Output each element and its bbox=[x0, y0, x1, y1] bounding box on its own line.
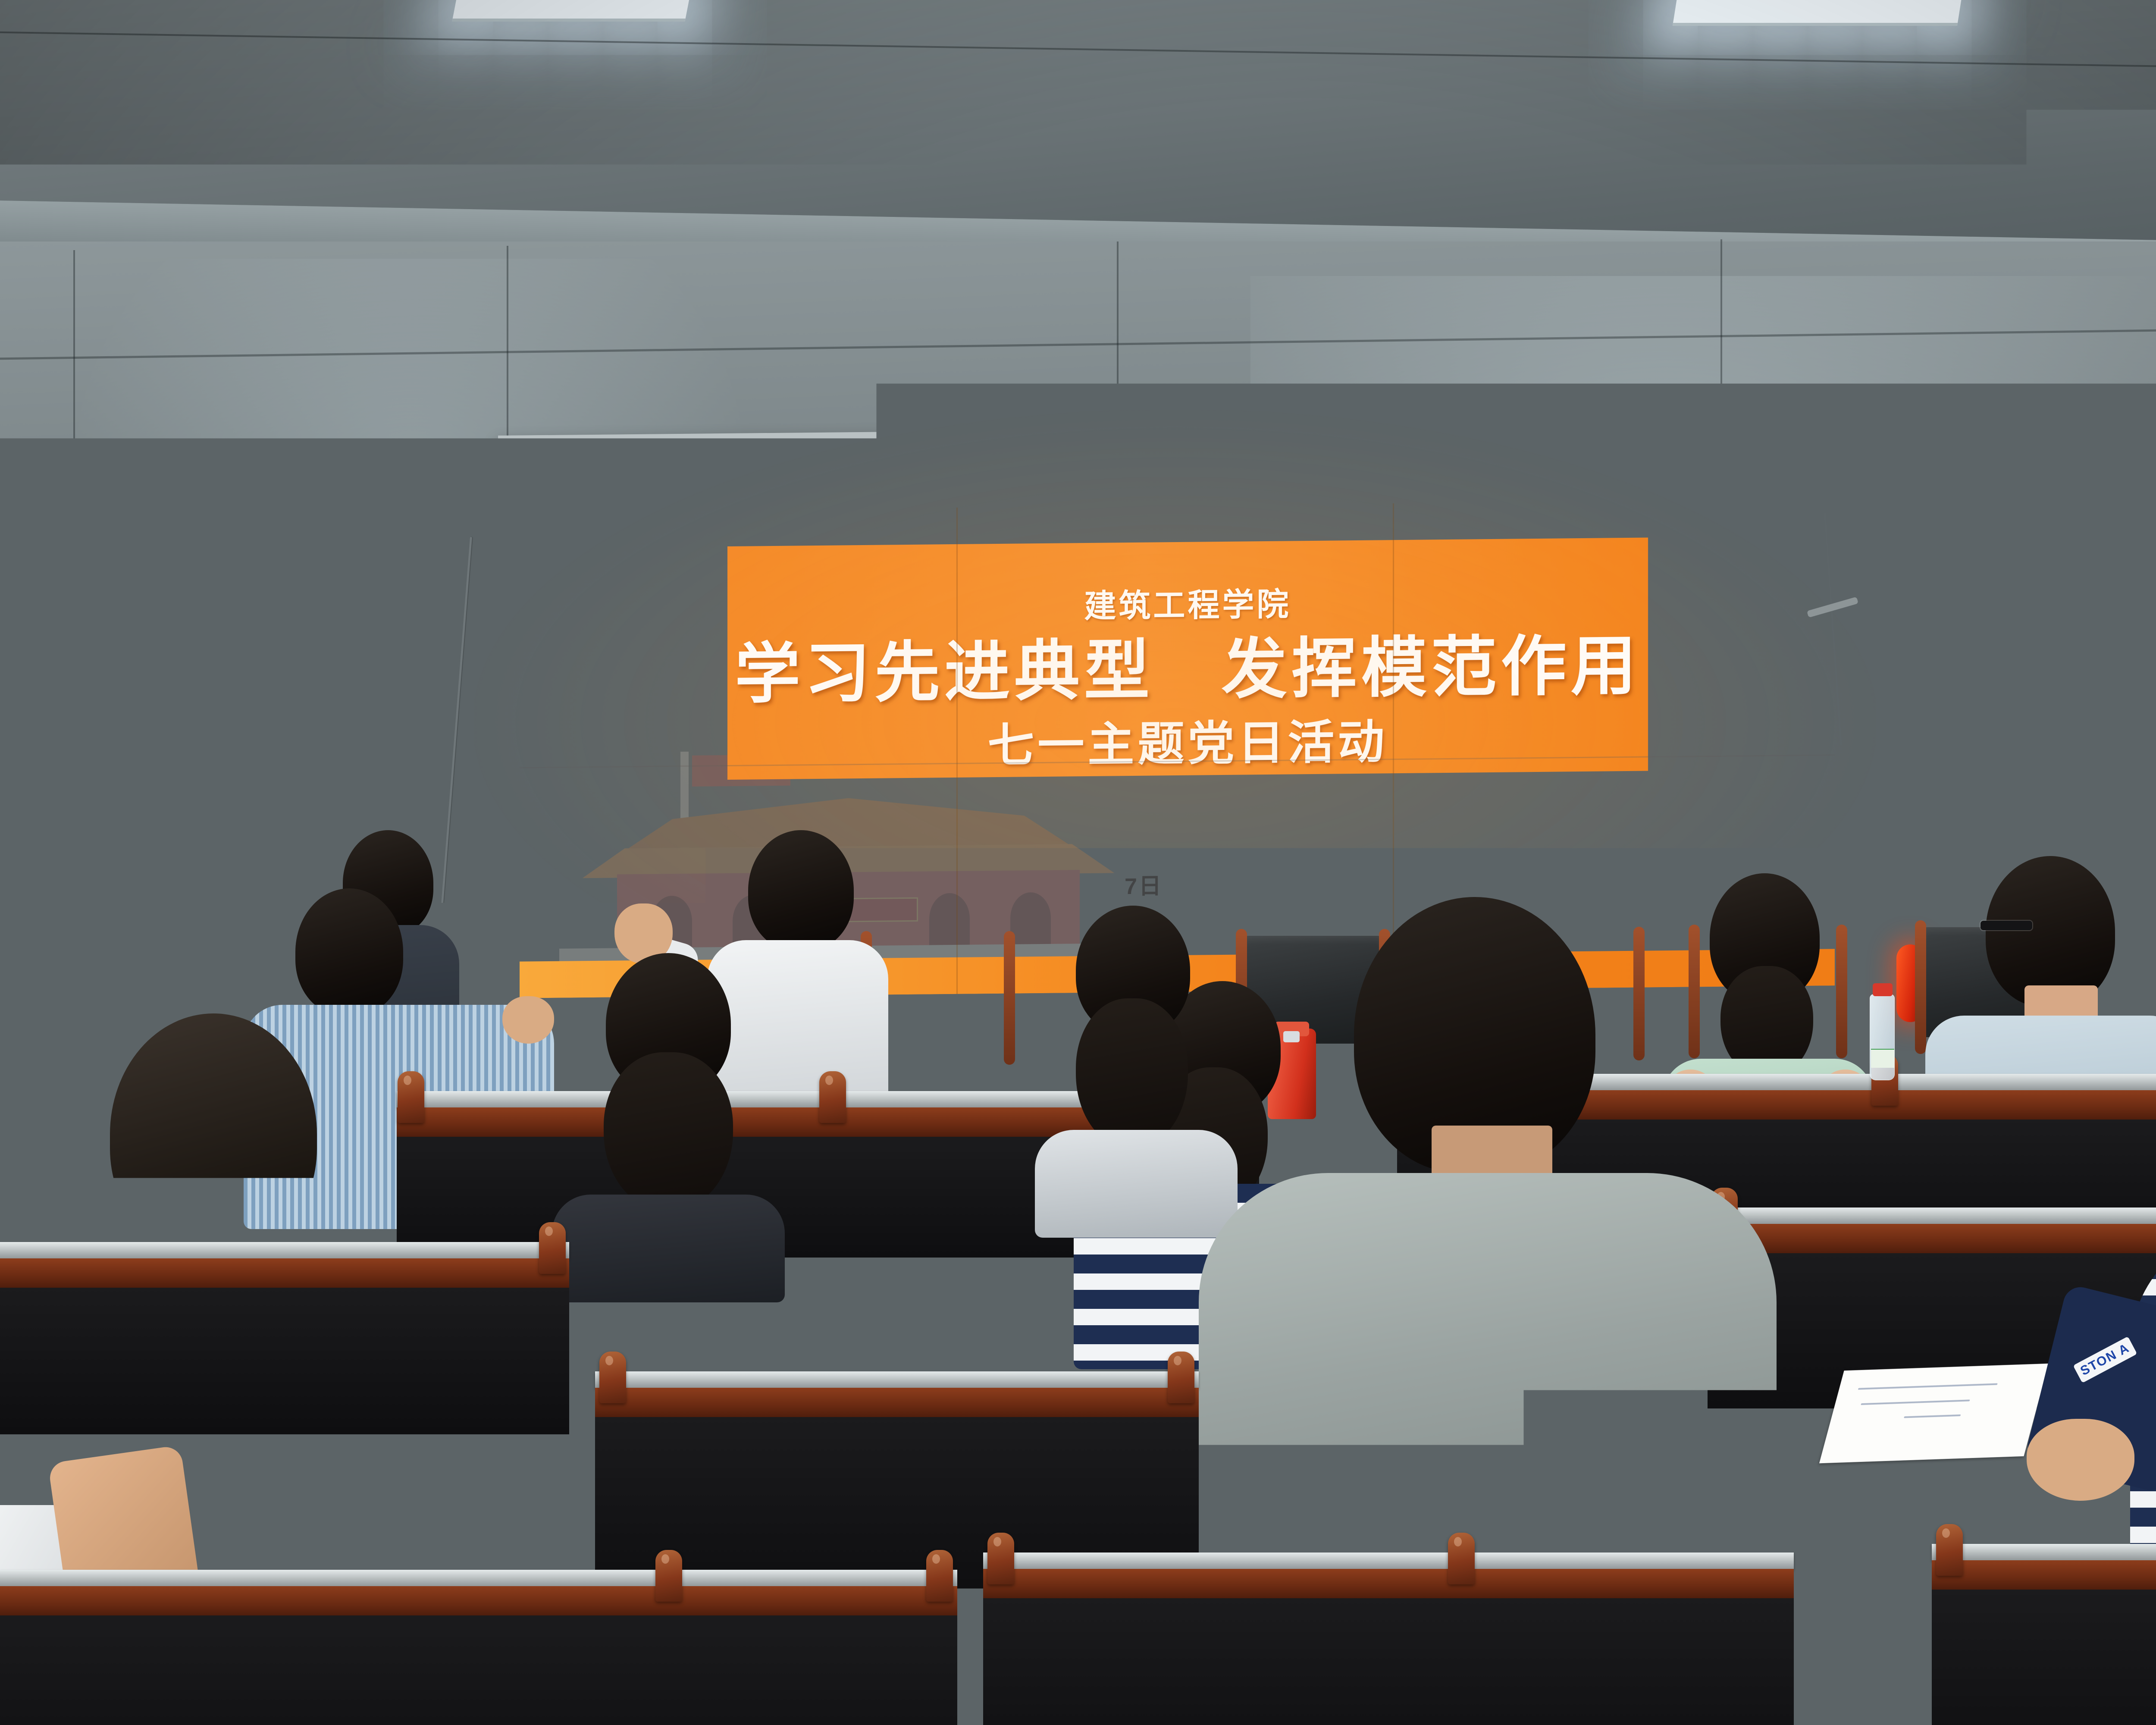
bench-rail bbox=[983, 1552, 1794, 1570]
water-bottle[interactable] bbox=[1870, 994, 1895, 1080]
hair bbox=[1076, 998, 1188, 1149]
bottle-cap bbox=[1873, 983, 1893, 996]
bench-post bbox=[1936, 1524, 1963, 1576]
bench-post bbox=[1168, 1352, 1194, 1403]
hand bbox=[2027, 1419, 2134, 1501]
bench-rail bbox=[1932, 1544, 2156, 1561]
slide-date-fragment: 7日 bbox=[1125, 868, 1163, 901]
head bbox=[748, 830, 854, 951]
glasses-icon bbox=[1981, 921, 2032, 930]
bench-wood-top bbox=[1932, 1560, 2156, 1590]
ceiling-light-icon bbox=[452, 0, 695, 22]
handwriting-line bbox=[1904, 1414, 1961, 1418]
handwritten-paper[interactable] bbox=[1819, 1364, 2049, 1463]
bench-rail bbox=[595, 1371, 1199, 1389]
wall-panel-seam bbox=[73, 250, 75, 1134]
bench-post bbox=[1448, 1533, 1475, 1584]
torso bbox=[552, 1195, 785, 1302]
tiananmen-arch bbox=[929, 893, 970, 945]
bench-post bbox=[819, 1071, 846, 1123]
handwriting-line bbox=[1861, 1399, 1970, 1405]
torso bbox=[1199, 1173, 1777, 1578]
ccp-hammer-sickle-emblem-icon bbox=[612, 551, 737, 649]
slide-organization: 建筑工程学院 bbox=[1084, 587, 1291, 624]
bench-post bbox=[655, 1550, 682, 1602]
bench-post bbox=[599, 1352, 626, 1403]
ceiling-light-icon bbox=[1673, 0, 1967, 26]
hand bbox=[502, 996, 554, 1044]
led-tile-seam bbox=[956, 508, 958, 994]
bench-row bbox=[983, 1552, 1794, 1725]
person-grey-tshirt-center bbox=[1199, 897, 1777, 1570]
slide-main-title: 学习先进典型 发挥模范作用 bbox=[735, 631, 1641, 709]
bench-row bbox=[0, 1570, 957, 1725]
bench-row bbox=[595, 1371, 1199, 1552]
head bbox=[1986, 856, 2115, 1007]
bench-back bbox=[0, 1615, 957, 1725]
bench-wood-top bbox=[983, 1569, 1794, 1599]
chair-arm bbox=[1004, 931, 1015, 1065]
head bbox=[110, 1013, 317, 1255]
bench-wood-top bbox=[0, 1586, 957, 1616]
bench-back bbox=[1932, 1590, 2156, 1725]
bench-post bbox=[926, 1550, 953, 1602]
bench-post bbox=[987, 1533, 1014, 1584]
bench-rail bbox=[0, 1570, 957, 1587]
bottle-label bbox=[1871, 1049, 1894, 1068]
handwriting-line bbox=[1858, 1383, 1998, 1389]
bench-row bbox=[1932, 1544, 2156, 1725]
slide-title-banner: 建筑工程学院 学习先进典型 发挥模范作用 七一主题党日活动 bbox=[727, 537, 1648, 780]
conference-hall-photo: ★ ★ ★ ★ ★ ★ ★ ★ ★ ★ ★ ★ ★ ★ ★ ★ ★ bbox=[0, 0, 2156, 1725]
bench-post bbox=[539, 1222, 566, 1274]
bench-back bbox=[983, 1598, 1794, 1725]
person-striped-boston-tee: STON A bbox=[2126, 927, 2156, 1626]
head bbox=[295, 888, 403, 1016]
hair bbox=[604, 1052, 733, 1212]
person-long-hair-left bbox=[552, 953, 785, 1298]
bench-wood-top bbox=[595, 1388, 1199, 1418]
chair-arm bbox=[1915, 920, 1926, 1054]
